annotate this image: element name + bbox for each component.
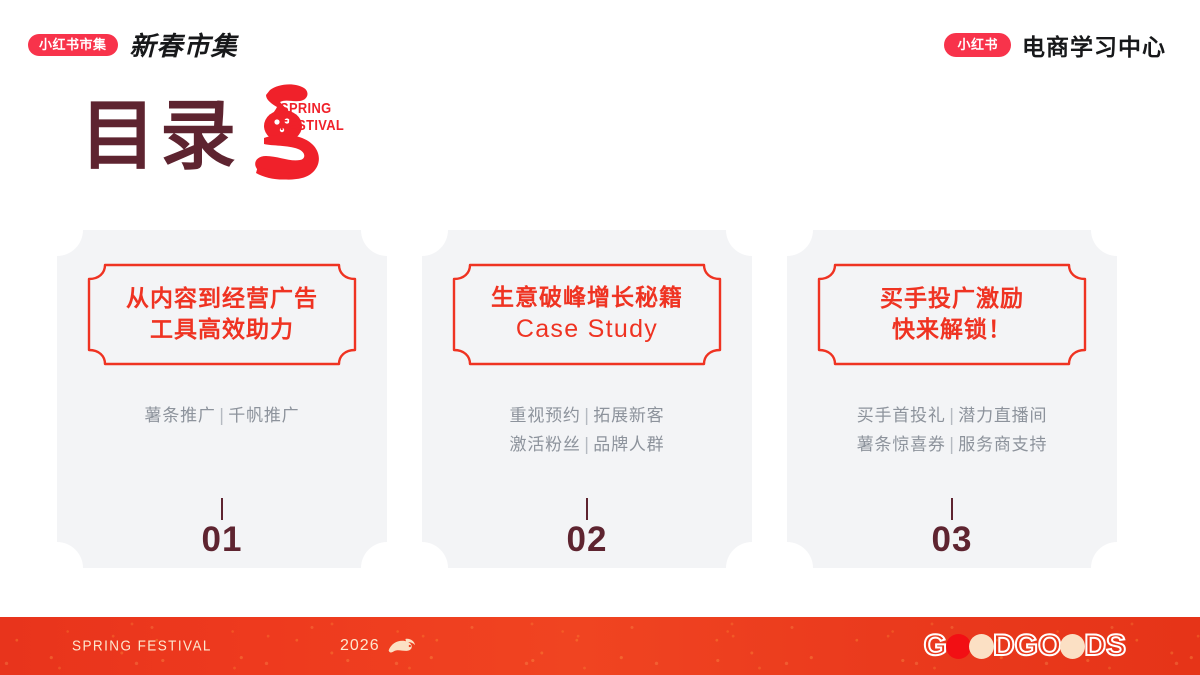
- footer-band: SPRING FESTIVAL 2026 GDGODS: [0, 617, 1200, 675]
- card-subtitle-item: 拓展新客: [593, 406, 664, 426]
- card-heading-line2: 快来解锁！: [892, 316, 1012, 344]
- logo-dot-cream-1: [969, 634, 994, 659]
- agenda-card-03[interactable]: 买手投广激励 快来解锁！ 买手首投礼|潜力直播间 薯条惊喜券|服务商支持 03: [787, 230, 1117, 568]
- card-heading-frame: 买手投广激励 快来解锁！: [817, 263, 1087, 366]
- card-number-tick: [586, 498, 588, 520]
- footer-year-label: 2026: [340, 637, 380, 655]
- card-subtitle-item: 品牌人群: [593, 435, 664, 455]
- spring-festival-line1: SPRING: [280, 100, 344, 117]
- card-notch-top-left: [57, 230, 83, 256]
- top-header-bar: 小红书市集 新春市集 小红书 电商学习中心: [0, 0, 1200, 88]
- card-notch-top-right: [1091, 230, 1117, 256]
- brand-left-group: 小红书市集 新春市集: [28, 26, 238, 63]
- card-number: 03: [787, 522, 1117, 557]
- brand-right-title: 电商学习中心: [1022, 28, 1166, 62]
- goodgoods-logo-text: G: [924, 631, 947, 661]
- card-subtitle-item: 潜力直播间: [958, 406, 1047, 426]
- card-notch-top-right: [726, 230, 752, 256]
- card-subtitle-item: 服务商支持: [958, 435, 1047, 455]
- card-subtitle-item: 薯条推广: [145, 406, 216, 426]
- card-notch-top-left: [787, 230, 813, 256]
- card-heading-line1: 生意破峰增长秘籍: [491, 284, 683, 312]
- agenda-card-02[interactable]: 生意破峰增长秘籍 Case Study 重视预约|拓展新客 激活粉丝|品牌人群 …: [422, 230, 752, 568]
- brand-right-group: 小红书 电商学习中心: [944, 28, 1166, 62]
- card-heading-text: 生意破峰增长秘籍 Case Study: [452, 263, 722, 366]
- card-subtitle-separator: |: [581, 406, 594, 426]
- slide-root: 小红书市集 新春市集 小红书 电商学习中心 目录: [0, 0, 1200, 675]
- card-heading-frame: 从内容到经营广告 工具高效助力: [87, 263, 357, 366]
- card-subtitle-item: 薯条惊喜券: [857, 435, 946, 455]
- card-subtitle-item: 买手首投礼: [857, 406, 946, 426]
- card-heading-frame: 生意破峰增长秘籍 Case Study: [452, 263, 722, 366]
- card-subtitle-item: 重视预约: [510, 406, 581, 426]
- card-subtitle-separator: |: [946, 406, 959, 426]
- goodgoods-logo: GDGODS: [924, 631, 1126, 661]
- snake-mark-icon: [228, 80, 348, 190]
- card-number: 02: [422, 522, 752, 557]
- card-number-tick: [221, 498, 223, 520]
- brand-left-title: 新春市集: [130, 26, 238, 63]
- card-heading-line1: 从内容到经营广告: [126, 285, 318, 313]
- goodgoods-logo-text: O: [1038, 631, 1061, 661]
- card-subtitle-item: 千帆推广: [228, 406, 299, 426]
- card-heading-line2: Case Study: [516, 314, 658, 345]
- card-number-tick: [951, 498, 953, 520]
- agenda-card-01[interactable]: 从内容到经营广告 工具高效助力 薯条推广|千帆推广 01: [57, 230, 387, 568]
- footer-spring-festival-label: SPRING FESTIVAL: [72, 638, 212, 655]
- card-subtitle-separator: |: [581, 435, 594, 455]
- footer-year-group: 2026: [340, 636, 416, 656]
- page-title-block: 目录 SPRING FESTIVAL: [80, 88, 500, 208]
- card-subtitle-line1: 买手首投礼|潜力直播间: [787, 402, 1117, 431]
- card-subtitle-line2: 薯条惊喜券|服务商支持: [787, 431, 1117, 460]
- card-subtitle-separator: |: [216, 406, 229, 426]
- card-subtitle-line1: 薯条推广|千帆推广: [57, 402, 387, 431]
- goodgoods-logo-text: DG: [993, 631, 1038, 661]
- card-subtitle-line1: 重视预约|拓展新客: [422, 402, 752, 431]
- card-subtitle: 重视预约|拓展新客 激活粉丝|品牌人群: [422, 402, 752, 460]
- page-title: 目录: [80, 98, 240, 174]
- spring-festival-line2: FESTIVAL: [280, 117, 344, 134]
- goodgoods-logo-text: DS: [1084, 631, 1126, 661]
- card-number: 01: [57, 522, 387, 557]
- card-heading-text: 买手投广激励 快来解锁！: [817, 263, 1087, 366]
- xiaohongshu-market-badge: 小红书市集: [28, 34, 118, 56]
- card-notch-top-left: [422, 230, 448, 256]
- card-subtitle-line2: 激活粉丝|品牌人群: [422, 431, 752, 460]
- agenda-cards-row: 从内容到经营广告 工具高效助力 薯条推广|千帆推广 01: [0, 230, 1200, 570]
- card-heading-line2: 工具高效助力: [150, 316, 294, 344]
- card-subtitle-item: 激活粉丝: [510, 435, 581, 455]
- logo-dot-red: [946, 634, 971, 659]
- spring-festival-caption: SPRING FESTIVAL: [280, 100, 344, 135]
- card-subtitle-separator: |: [946, 435, 959, 455]
- card-subtitle: 买手首投礼|潜力直播间 薯条惊喜券|服务商支持: [787, 402, 1117, 460]
- card-subtitle: 薯条推广|千帆推广: [57, 402, 387, 431]
- logo-dot-cream-2: [1060, 634, 1085, 659]
- card-heading-line1: 买手投广激励: [880, 285, 1024, 313]
- xiaohongshu-badge: 小红书: [944, 33, 1011, 57]
- card-heading-text: 从内容到经营广告 工具高效助力: [87, 263, 357, 366]
- card-notch-top-right: [361, 230, 387, 256]
- snake-brush-icon: [386, 636, 416, 656]
